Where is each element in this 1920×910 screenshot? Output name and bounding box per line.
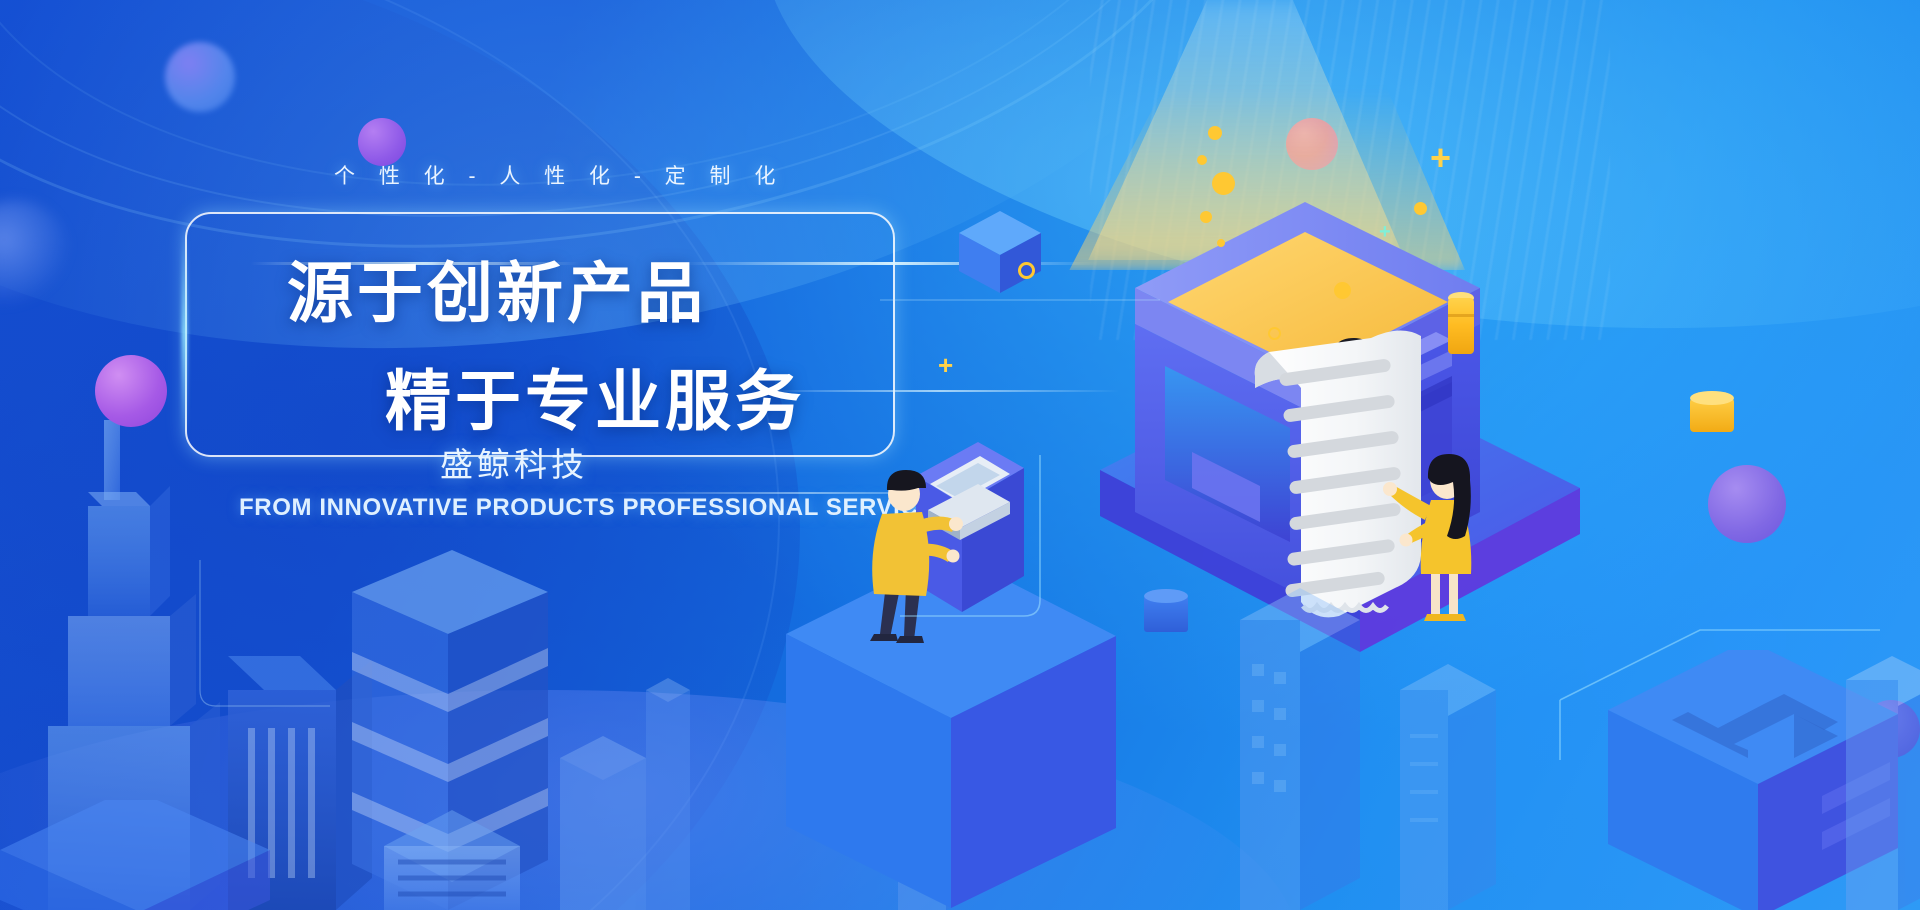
glow-guide-lines bbox=[0, 0, 1920, 910]
banner-stage: 个 性 化 - 人 性 化 - 定 制 化 源于创新产品 精于专业服务 盛鲸科技… bbox=[0, 0, 1920, 910]
